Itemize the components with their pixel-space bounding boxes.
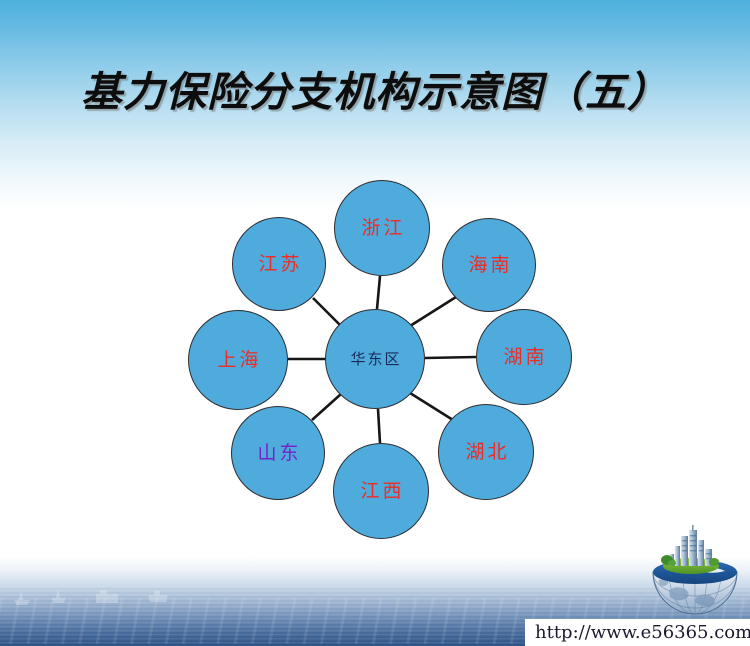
node-label-huadong-region: 华东区	[348, 352, 401, 367]
node-shanghai[interactable]: 上海	[188, 310, 288, 410]
org-structure-diagram: 浙江 江苏 海南 上海 湖南 山东 湖北 江西 华东区	[0, 0, 750, 646]
node-shandong[interactable]: 山东	[231, 406, 325, 500]
edge-center-shandong	[312, 394, 341, 420]
node-jiangxi[interactable]: 江西	[333, 443, 429, 539]
node-label-hubei: 湖北	[462, 443, 509, 462]
node-label-jiangsu: 江苏	[255, 255, 302, 274]
slide-canvas: 基力保险分支机构示意图（五） 浙江 江苏 海南 上海	[0, 0, 750, 646]
edge-center-hunan	[425, 357, 476, 358]
node-label-zhejiang: 浙江	[358, 219, 405, 238]
node-label-shandong: 山东	[254, 444, 301, 463]
node-label-hainan: 海南	[465, 256, 512, 275]
url-watermark: http://www.e56365.com	[525, 619, 750, 646]
edge-center-jiangsu	[313, 298, 340, 325]
url-watermark-text: http://www.e56365.com	[535, 622, 750, 643]
node-huadong-region-center[interactable]: 华东区	[325, 309, 425, 409]
edge-center-hainan	[410, 297, 456, 326]
node-label-hunan: 湖南	[500, 348, 547, 367]
node-zhejiang[interactable]: 浙江	[334, 180, 430, 276]
node-hainan[interactable]: 海南	[442, 218, 536, 312]
edge-center-jiangxi	[378, 409, 380, 443]
node-label-jiangxi: 江西	[357, 482, 404, 501]
edge-center-zhejiang	[377, 276, 380, 309]
node-jiangsu[interactable]: 江苏	[232, 217, 326, 311]
node-hunan[interactable]: 湖南	[476, 309, 572, 405]
globe-city-icon	[645, 524, 745, 620]
edge-center-hubei	[410, 393, 453, 420]
node-label-shanghai: 上海	[214, 351, 261, 370]
node-hubei[interactable]: 湖北	[438, 404, 534, 500]
